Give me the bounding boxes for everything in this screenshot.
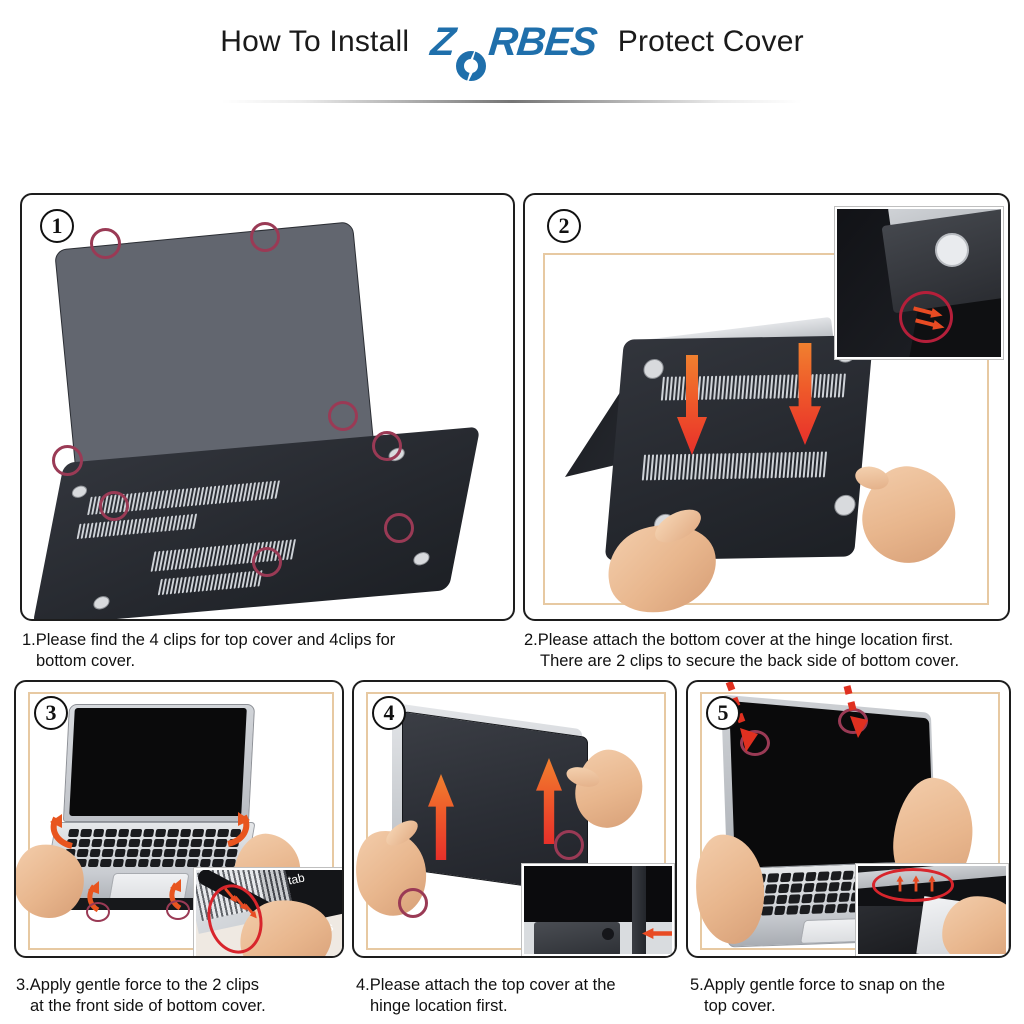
step-number-4: 4 — [372, 696, 406, 730]
header-prefix: How To Install — [220, 25, 409, 59]
inset-arrow-1 — [642, 928, 672, 939]
caption-2-line-1: 2.Please attach the bottom cover at the … — [524, 631, 953, 649]
logo-letter-z: Z — [429, 20, 457, 65]
clip-marker-top-1 — [90, 228, 121, 259]
clip-marker-top-2 — [250, 222, 280, 252]
rubber-foot — [833, 495, 856, 516]
step-number-5: 5 — [706, 696, 740, 730]
caption-4-line-1: 4.Please attach the top cover at the — [356, 976, 616, 994]
panel-step-2: 2 — [523, 193, 1010, 621]
clip-marker-front-2 — [166, 900, 190, 920]
caption-step-3: 3.Apply gentle force to the 2 clips at t… — [16, 975, 346, 1017]
curved-arrow-right — [222, 808, 258, 848]
rubber-foot — [92, 595, 111, 610]
snap-arrow-2 — [832, 680, 880, 758]
clip-marker-corner-1 — [554, 830, 584, 860]
clip-marker-bottom-4 — [252, 547, 282, 577]
clip-marker-bottom-2 — [99, 491, 129, 521]
clip-foot-closeup — [935, 233, 969, 267]
caption-step-5: 5.Apply gentle force to snap on the top … — [690, 975, 1010, 1017]
panel-step-5: 5 — [686, 680, 1011, 958]
panel-4-inset-photo — [522, 864, 674, 956]
caption-step-2: 2.Please attach the bottom cover at the … — [524, 630, 1016, 672]
panel-step-1: 1 — [20, 193, 515, 621]
caption-3-line-2: at the front side of bottom cover. — [16, 996, 346, 1017]
rubber-foot — [71, 485, 88, 499]
curved-arrow-left — [42, 810, 78, 850]
laptop-keyboard — [63, 829, 242, 867]
caption-2-line-2: There are 2 clips to secure the back sid… — [524, 651, 1016, 672]
caption-1-line-2: bottom cover. — [22, 651, 502, 672]
clip-marker-bottom-1 — [372, 431, 402, 461]
inset-clip-marker — [899, 291, 953, 343]
clip-marker-top-4 — [52, 445, 83, 476]
header-divider — [222, 100, 802, 103]
clip-marker-corner-2 — [398, 888, 428, 918]
panel-2-inset-photo — [835, 207, 1003, 359]
header-suffix: Protect Cover — [618, 25, 804, 59]
logo-letters-rbes: RBES — [486, 20, 598, 65]
step-number-1: 1 — [40, 209, 74, 243]
caption-3-line-1: 3.Apply gentle force to the 2 clips — [16, 976, 259, 994]
panel-3-inset-photo: tab caps — [194, 868, 344, 958]
caption-step-1: 1.Please find the 4 clips for top cover … — [22, 630, 502, 672]
step-number-3: 3 — [34, 696, 68, 730]
laptop-screen — [69, 708, 247, 816]
page-header: How To Install Z RBES Protect Cover — [0, 12, 1024, 72]
step-number-2: 2 — [547, 209, 581, 243]
caption-step-4: 4.Please attach the top cover at the hin… — [356, 975, 676, 1017]
caption-4-line-2: hinge location first. — [356, 996, 676, 1017]
panel-step-4: 4 — [352, 680, 677, 958]
vent-row-2 — [642, 451, 827, 480]
vent-row-2 — [77, 514, 198, 540]
zorbes-logo: Z RBES — [431, 20, 596, 65]
inset-screw — [602, 928, 614, 940]
installation-guide-page: How To Install Z RBES Protect Cover 1 — [0, 0, 1024, 1024]
inset-clip-marker — [872, 868, 954, 902]
clip-marker-front-1 — [86, 902, 110, 922]
caption-5-line-1: 5.Apply gentle force to snap on the — [690, 976, 945, 994]
clip-marker-top-3 — [328, 401, 358, 431]
rubber-foot — [412, 551, 431, 566]
panel-step-3: 3 — [14, 680, 344, 958]
vent-row-4 — [158, 570, 263, 595]
caption-5-line-2: top cover. — [690, 996, 1010, 1017]
panel-5-inset-photo — [856, 864, 1008, 956]
caption-1-line-1: 1.Please find the 4 clips for top cover … — [22, 631, 395, 649]
rubber-foot — [643, 359, 665, 379]
clip-marker-bottom-3 — [384, 513, 414, 543]
